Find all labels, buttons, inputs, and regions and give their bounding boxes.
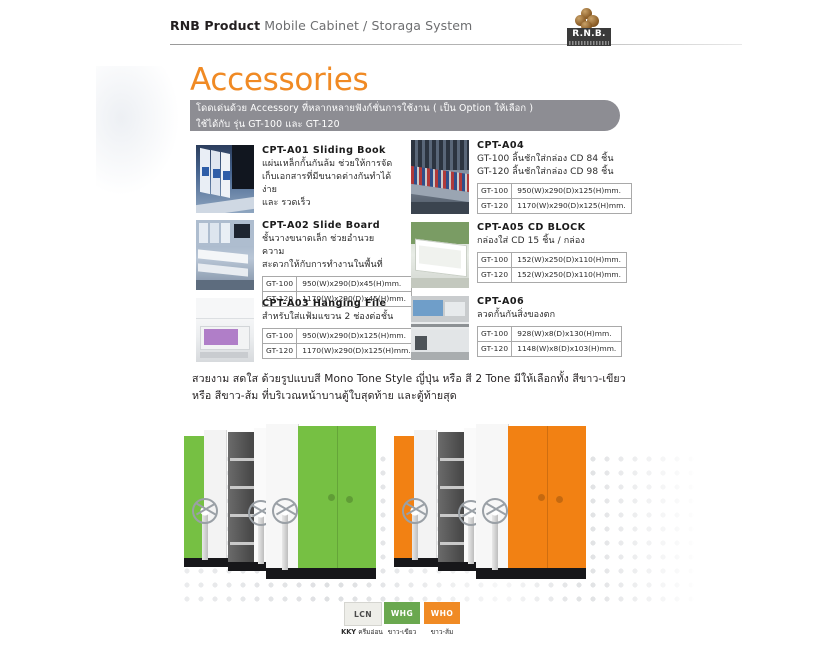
accessory-text-a01: CPT-A01 Sliding Book แผ่นเหล็กกั้นกันล้ม… <box>262 145 396 210</box>
paragraph-line-2: หรือ สีขาว-ส้ม ที่บริเวณหน้าบานตู้ใบสุดท… <box>192 388 642 405</box>
accessory-text-a06: CPT-A06 ลวดกั้นกันสิ่งของตก GT-100 928(W… <box>477 296 617 357</box>
catalog-page: RNB Product Mobile Cabinet / Storaga Sys… <box>0 0 840 650</box>
subtitle-line-1: โดดเด่นด้วย Accessory ที่หลากหลายฟังก์ชั… <box>190 100 620 116</box>
spec-dimension: 1148(W)x8(D)x103(H)mm. <box>512 342 622 357</box>
header-title-brand: RNB Product <box>170 18 260 33</box>
swatch-who[interactable]: WHO <box>424 602 460 624</box>
accessory-item-a01: CPT-A01 Sliding Book แผ่นเหล็กกั้นกันล้ม… <box>196 145 396 213</box>
logo-text: R.N.B. <box>567 28 611 40</box>
spec-dimension: 1170(W)x290(D)x125(H)mm. <box>512 199 631 214</box>
accessory-code-a05: CPT-A05 CD BLOCK <box>477 222 617 233</box>
spec-table-a05: GT-100 152(W)x250(D)x110(H)mm. GT-120 15… <box>477 252 627 283</box>
page-header: RNB Product Mobile Cabinet / Storaga Sys… <box>170 18 800 52</box>
logo-plate: R.N.B. <box>567 28 611 46</box>
spec-model: GT-120 <box>478 268 512 283</box>
header-title: RNB Product Mobile Cabinet / Storaga Sys… <box>170 18 472 33</box>
coffee-beans-icon <box>575 8 603 30</box>
product-photo-a02 <box>196 220 254 290</box>
table-row: GT-100 928(W)x8(D)x130(H)mm. <box>478 327 622 342</box>
product-photo-a03 <box>196 298 254 362</box>
handwheel-icon <box>272 498 298 524</box>
accessory-desc-a03: สำหรับใส่แฟ้มแขวน 2 ช่องต่อชั้น <box>262 311 396 324</box>
accessory-item-a03: CPT-A03 Hanging File สำหรับใส่แฟ้มแขวน 2… <box>196 298 396 364</box>
spec-model: GT-100 <box>478 253 512 268</box>
spec-dimension: 950(W)x290(D)x45(H)mm. <box>297 277 412 292</box>
spec-table-a06: GT-100 928(W)x8(D)x130(H)mm. GT-120 1148… <box>477 326 622 357</box>
table-row: GT-100 950(W)x290(D)x125(H)mm. <box>478 184 632 199</box>
table-row: GT-120 1170(W)x290(D)x125(H)mm. <box>263 344 417 359</box>
accessory-text-a04: CPT-A04 GT-100 ลิ้นชักใส่กล่อง CD 84 ชิ้… <box>477 140 617 214</box>
handwheel-icon <box>402 498 428 524</box>
spec-dimension: 928(W)x8(D)x130(H)mm. <box>512 327 622 342</box>
table-row: GT-100 950(W)x290(D)x125(H)mm. <box>263 329 417 344</box>
accessory-text-a02: CPT-A02 Slide Board ชั้นวางขนาดเล็ก ช่วย… <box>262 220 396 307</box>
product-photo-a06 <box>411 296 469 360</box>
left-decoration <box>96 66 180 196</box>
accessory-item-a04: CPT-A04 GT-100 ลิ้นชักใส่กล่อง CD 84 ชิ้… <box>411 140 611 218</box>
spec-table-a03: GT-100 950(W)x290(D)x125(H)mm. GT-120 11… <box>262 328 417 359</box>
table-row: GT-120 1148(W)x8(D)x103(H)mm. <box>478 342 622 357</box>
swatch-label-who: ขาว-ส้ม <box>414 626 470 637</box>
accessory-desc-a01: แผ่นเหล็กกั้นกันล้ม ช่วยให้การจัด เก็บเอ… <box>262 158 396 210</box>
spec-dimension: 950(W)x290(D)x125(H)mm. <box>297 329 416 344</box>
accessory-item-a06: CPT-A06 ลวดกั้นกันสิ่งของตก GT-100 928(W… <box>411 296 611 362</box>
table-row: GT-100 152(W)x250(D)x110(H)mm. <box>478 253 627 268</box>
spec-model: GT-100 <box>263 277 297 292</box>
rnb-logo: R.N.B. <box>567 8 611 46</box>
accessory-desc-a06: ลวดกั้นกันสิ่งของตก <box>477 309 617 322</box>
color-swatch-legend: LCN WHG WHO KKY ครีมอ่อน ขาว-เขียว ขาว-ส… <box>344 602 464 642</box>
accessory-code-a04: CPT-A04 <box>477 140 617 151</box>
accessory-text-a05: CPT-A05 CD BLOCK กล่องใส่ CD 15 ชิ้น / ก… <box>477 222 617 283</box>
spec-model: GT-100 <box>478 184 512 199</box>
header-title-sub: Mobile Cabinet / Storaga System <box>264 18 472 33</box>
cabinet-illustration <box>170 412 700 602</box>
accessory-code-a06: CPT-A06 <box>477 296 617 307</box>
table-row: GT-120 1170(W)x290(D)x125(H)mm. <box>478 199 632 214</box>
spec-dimension: 950(W)x290(D)x125(H)mm. <box>512 184 631 199</box>
product-photo-a05 <box>411 222 469 288</box>
spec-dimension: 1170(W)x290(D)x125(H)mm. <box>297 344 416 359</box>
swatch-lcn[interactable]: LCN <box>344 602 382 626</box>
product-photo-a01 <box>196 145 254 213</box>
product-photo-a04 <box>411 140 469 214</box>
header-divider <box>170 44 742 45</box>
paragraph-line-1: สวยงาม สดใส ด้วยรูปแบบสี Mono Tone Style… <box>192 371 642 388</box>
subtitle-line-2: ใช้ได้กับ รุ่น GT-100 และ GT-120 <box>190 116 620 132</box>
spec-model: GT-100 <box>263 329 297 344</box>
table-row: GT-100 950(W)x290(D)x45(H)mm. <box>263 277 412 292</box>
swatch-label-lcn-code: KKY <box>341 628 356 636</box>
accessory-text-a03: CPT-A03 Hanging File สำหรับใส่แฟ้มแขวน 2… <box>262 298 396 359</box>
accessory-item-a05: CPT-A05 CD BLOCK กล่องใส่ CD 15 ชิ้น / ก… <box>411 222 611 290</box>
accessory-desc-a04: GT-100 ลิ้นชักใส่กล่อง CD 84 ชิ้น GT-120… <box>477 153 617 179</box>
accessory-code-a03: CPT-A03 Hanging File <box>262 298 396 309</box>
page-title: Accessories <box>190 62 368 98</box>
table-row: GT-120 152(W)x250(D)x110(H)mm. <box>478 268 627 283</box>
accessory-item-a02: CPT-A02 Slide Board ชั้นวางขนาดเล็ก ช่วย… <box>196 220 396 292</box>
logo-underbar <box>569 41 609 45</box>
spec-dimension: 152(W)x250(D)x110(H)mm. <box>512 253 627 268</box>
spec-model: GT-120 <box>478 199 512 214</box>
handwheel-icon <box>192 498 218 524</box>
accessory-desc-a02: ชั้นวางขนาดเล็ก ช่วยอำนวยความ สะดวกให้กั… <box>262 233 396 272</box>
marketing-paragraph: สวยงาม สดใส ด้วยรูปแบบสี Mono Tone Style… <box>192 371 642 405</box>
accessory-code-a02: CPT-A02 Slide Board <box>262 220 396 231</box>
spec-model: GT-120 <box>478 342 512 357</box>
accessory-desc-a05: กล่องใส่ CD 15 ชิ้น / กล่อง <box>477 235 617 248</box>
swatch-whg[interactable]: WHG <box>384 602 420 624</box>
accessory-code-a01: CPT-A01 Sliding Book <box>262 145 396 156</box>
subtitle-bar: โดดเด่นด้วย Accessory ที่หลากหลายฟังก์ชั… <box>190 100 620 131</box>
handwheel-icon <box>482 498 508 524</box>
spec-model: GT-120 <box>263 344 297 359</box>
spec-model: GT-100 <box>478 327 512 342</box>
spec-table-a04: GT-100 950(W)x290(D)x125(H)mm. GT-120 11… <box>477 183 632 214</box>
spec-dimension: 152(W)x250(D)x110(H)mm. <box>512 268 627 283</box>
